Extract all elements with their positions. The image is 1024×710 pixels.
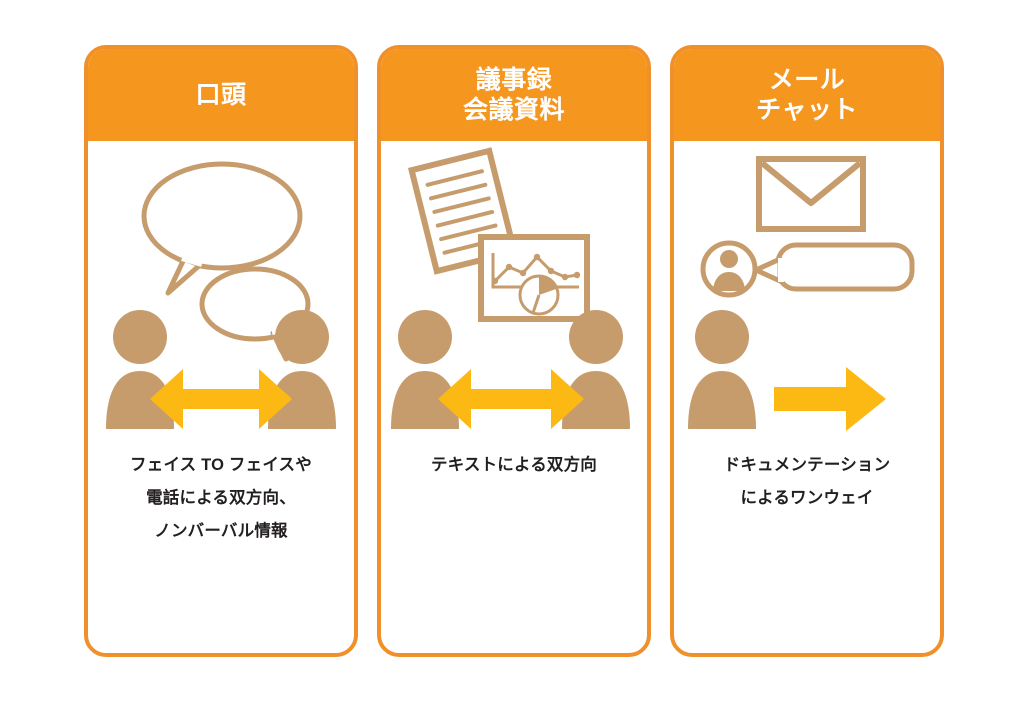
caption-line: ノンバーバル情報 [95, 515, 347, 548]
single-arrow-icon [774, 367, 886, 431]
diagram-canvas: 口頭 [0, 0, 1024, 710]
envelope-icon [759, 159, 863, 229]
caption-line: 電話による双方向、 [95, 482, 347, 515]
panel-row: 口頭 [84, 45, 944, 657]
caption-line: ドキュメンテーション [681, 449, 933, 482]
chat-bubble-icon [756, 245, 912, 289]
chart-board-icon [481, 237, 587, 319]
chat-avatar-icon [703, 243, 755, 295]
person-right-icon [562, 310, 630, 429]
caption-line: フェイス TO フェイスや [95, 449, 347, 482]
panel-minutes-header: 議事録 会議資料 [381, 49, 647, 141]
panel-mail-chat-header: メール チャット [674, 49, 940, 141]
panel-minutes-title-line2: 会議資料 [463, 95, 565, 126]
panel-verbal-illustration [88, 141, 354, 441]
panel-mail-chat-title-line2: チャット [756, 95, 858, 126]
person-left-icon [391, 310, 459, 429]
panel-minutes-illustration [381, 141, 647, 441]
panel-minutes-body: テキストによる双方向 [381, 141, 647, 653]
panel-minutes-caption: テキストによる双方向 [388, 449, 640, 482]
panel-verbal-body: フェイス TO フェイスや 電話による双方向、 ノンバーバル情報 [88, 141, 354, 653]
panel-minutes[interactable]: 議事録 会議資料 [377, 45, 651, 657]
panel-verbal-title-line1: 口頭 [195, 80, 246, 111]
caption-line: によるワンウェイ [681, 482, 933, 515]
panel-verbal[interactable]: 口頭 [84, 45, 358, 657]
panel-verbal-caption: フェイス TO フェイスや 電話による双方向、 ノンバーバル情報 [95, 449, 347, 548]
panel-mail-chat-illustration [674, 141, 940, 441]
caption-line: テキストによる双方向 [388, 449, 640, 482]
panel-minutes-title-line1: 議事録 [476, 65, 553, 96]
pie-chart-icon [520, 276, 558, 314]
panel-mail-chat-title-line1: メール [769, 65, 846, 96]
panel-mail-chat[interactable]: メール チャット [670, 45, 944, 657]
panel-verbal-header: 口頭 [88, 49, 354, 141]
double-arrow-icon [438, 369, 584, 429]
panel-mail-chat-body: ドキュメンテーション によるワンウェイ [674, 141, 940, 653]
person-left-icon [688, 310, 756, 429]
panel-mail-chat-caption: ドキュメンテーション によるワンウェイ [681, 449, 933, 515]
